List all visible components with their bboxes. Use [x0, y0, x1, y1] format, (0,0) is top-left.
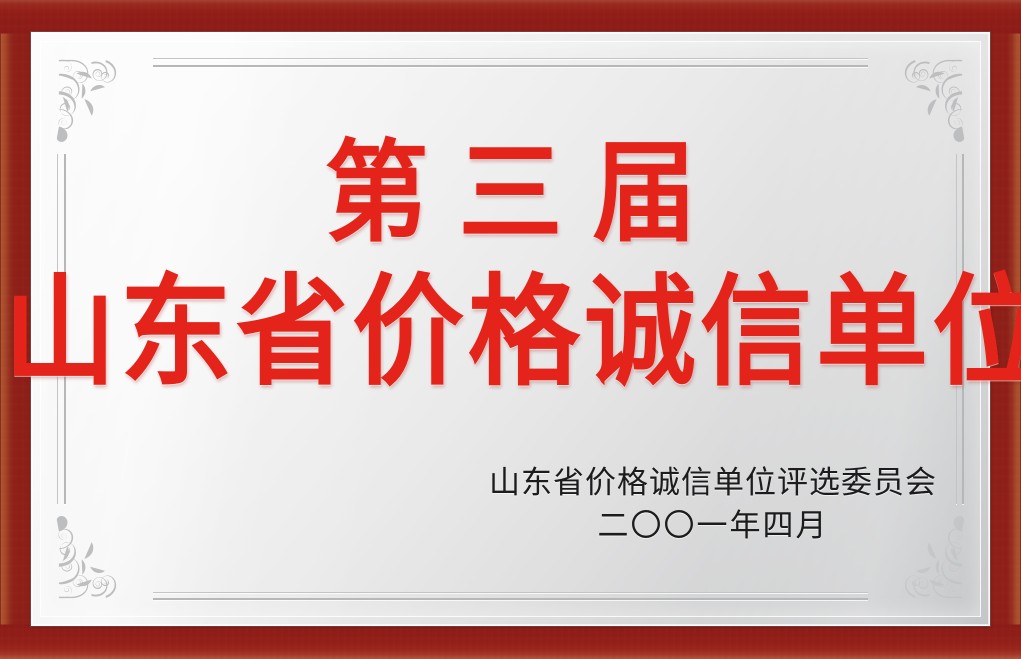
award-name-title: 山东省价格诚信单位	[0, 270, 1021, 396]
issuing-organization: 山东省价格诚信单位评选委员会	[489, 462, 937, 504]
award-edition-title: 第三届	[0, 135, 1021, 252]
award-plaque-photo: 第三届 山东省价格诚信单位 山东省价格诚信单位评选委员会 二〇〇一年四月	[0, 0, 1021, 659]
signature-block: 山东省价格诚信单位评选委员会 二〇〇一年四月	[489, 462, 937, 548]
issue-date: 二〇〇一年四月	[489, 504, 937, 548]
plaque-text-content: 第三届 山东省价格诚信单位 山东省价格诚信单位评选委员会 二〇〇一年四月	[0, 0, 1021, 659]
